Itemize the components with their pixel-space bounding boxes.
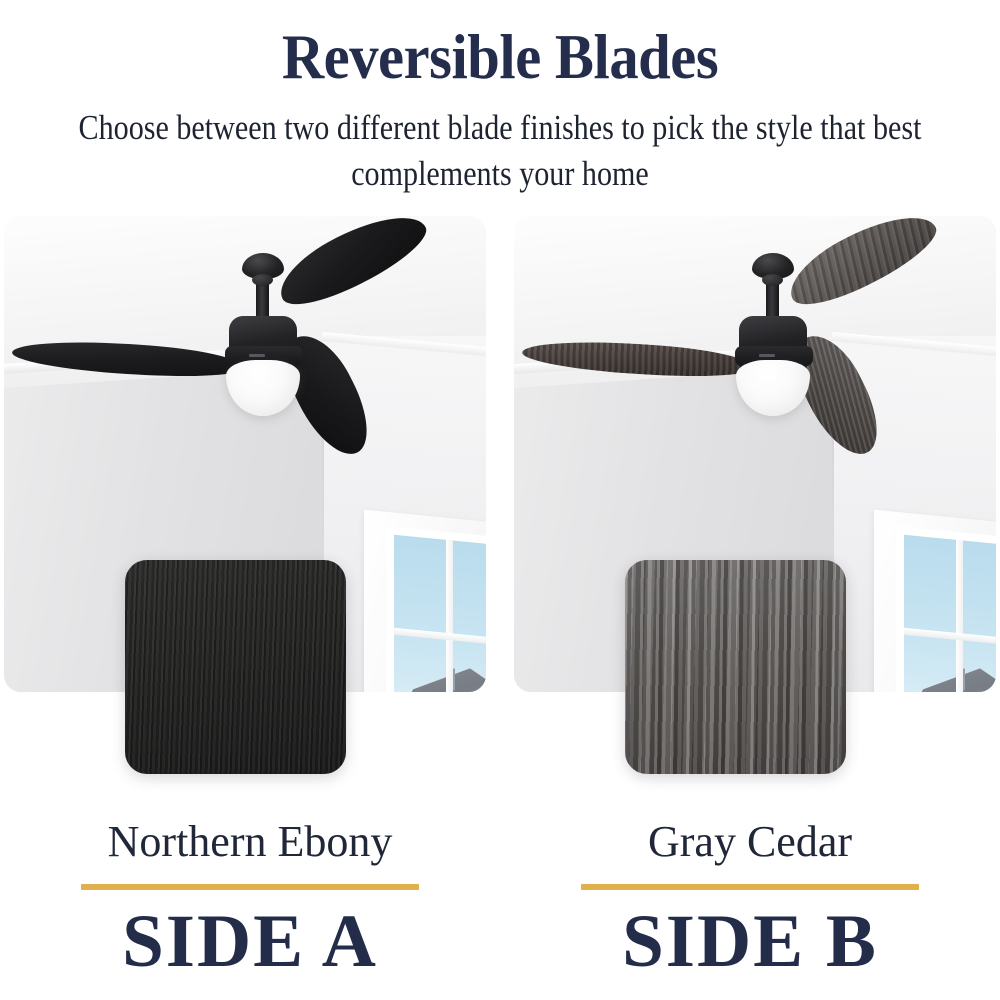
fan-blade-upper-right [269, 216, 435, 318]
header: Reversible Blades Choose between two dif… [0, 0, 1000, 196]
finish-name-side-b: Gray Cedar [500, 800, 1000, 864]
fan-downrod-joint [762, 274, 783, 286]
fan-blade-upper-right [779, 216, 945, 318]
caption-side-a: Northern Ebony SIDE A [0, 800, 500, 1000]
swatch-northern-ebony[interactable] [125, 560, 346, 774]
side-label-a: SIDE A [0, 890, 500, 979]
page-subtitle: Choose between two different blade finis… [70, 105, 930, 196]
fan-blade-left [521, 337, 754, 381]
page-title: Reversible Blades [35, 26, 965, 89]
finish-name-side-a: Northern Ebony [0, 800, 500, 864]
fan-light-dome [226, 360, 300, 416]
side-label-b: SIDE B [500, 890, 1000, 979]
swatch-gray-cedar[interactable] [625, 560, 846, 774]
caption-row: Northern Ebony SIDE A Gray Cedar SIDE B [0, 800, 1000, 1000]
caption-side-b: Gray Cedar SIDE B [500, 800, 1000, 1000]
fan-light-dome [736, 360, 810, 416]
fan-downrod-joint [252, 274, 273, 286]
fan-blade-left [11, 337, 244, 381]
